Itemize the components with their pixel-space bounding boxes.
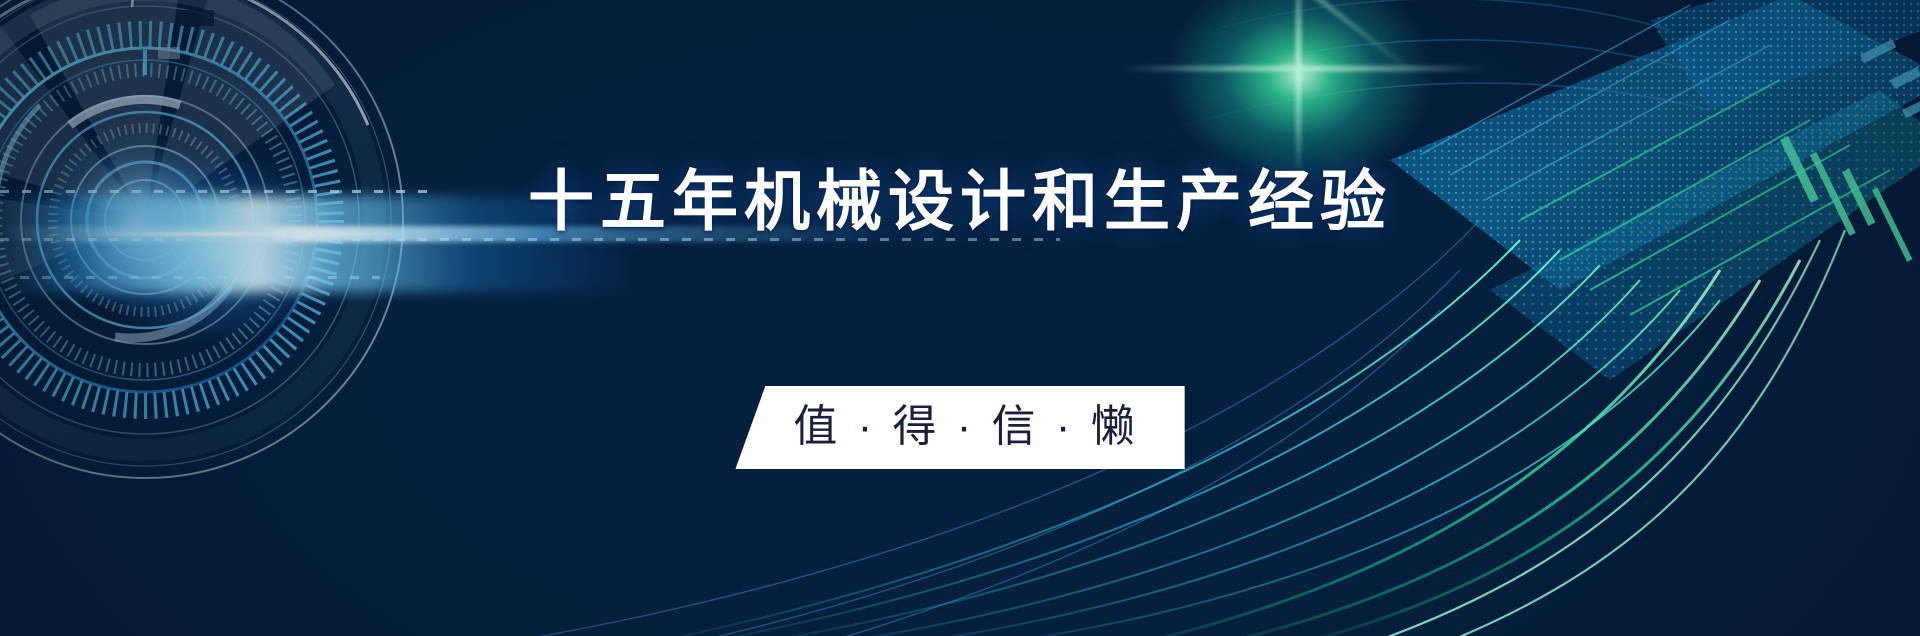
page-title: 十五年机械设计和生产经验 — [0, 168, 1920, 234]
promo-banner: 十五年机械设计和生产经验 值 · 得 · 信 · 懒 — [0, 0, 1920, 636]
subtitle-text: 值 · 得 · 信 · 懒 — [793, 402, 1138, 451]
vignette-overlay — [0, 0, 1920, 636]
subtitle-container: 值 · 得 · 信 · 懒 — [0, 386, 1920, 469]
subtitle-box: 值 · 得 · 信 · 懒 — [735, 386, 1184, 469]
